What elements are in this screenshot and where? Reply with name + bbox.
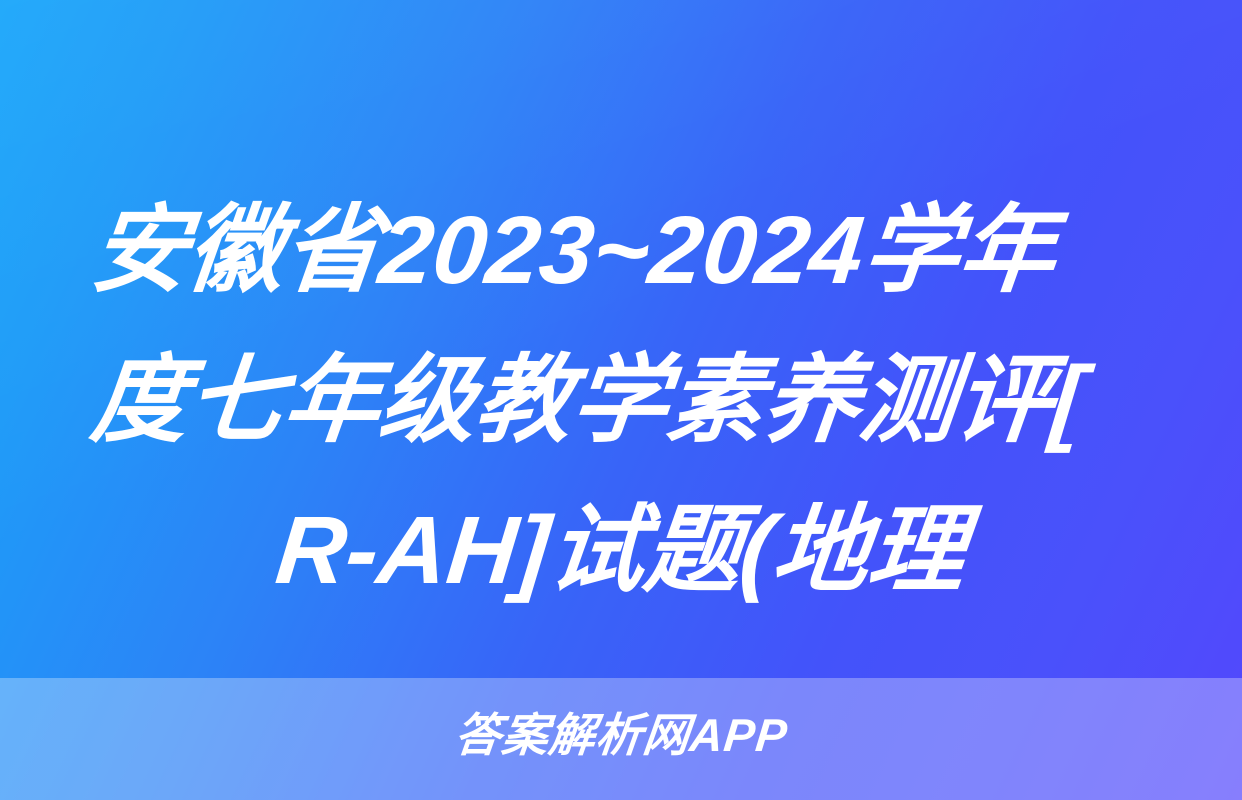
title-line-3: R-AH]试题(地理 (66, 476, 1176, 626)
watermark-text: 答案解析网APP (451, 700, 791, 770)
title-line-2: 度七年级教学素养测评[ (66, 326, 1176, 476)
title-line-1: 安徽省2023~2024学年 (66, 176, 1176, 326)
watermark-label: 答案解析网APP (0, 700, 1242, 770)
page-title: 安徽省2023~2024学年 度七年级教学素养测评[ R-AH]试题(地理 (0, 176, 1242, 626)
exam-cover-card: 安徽省2023~2024学年 度七年级教学素养测评[ R-AH]试题(地理 答案… (0, 0, 1242, 800)
